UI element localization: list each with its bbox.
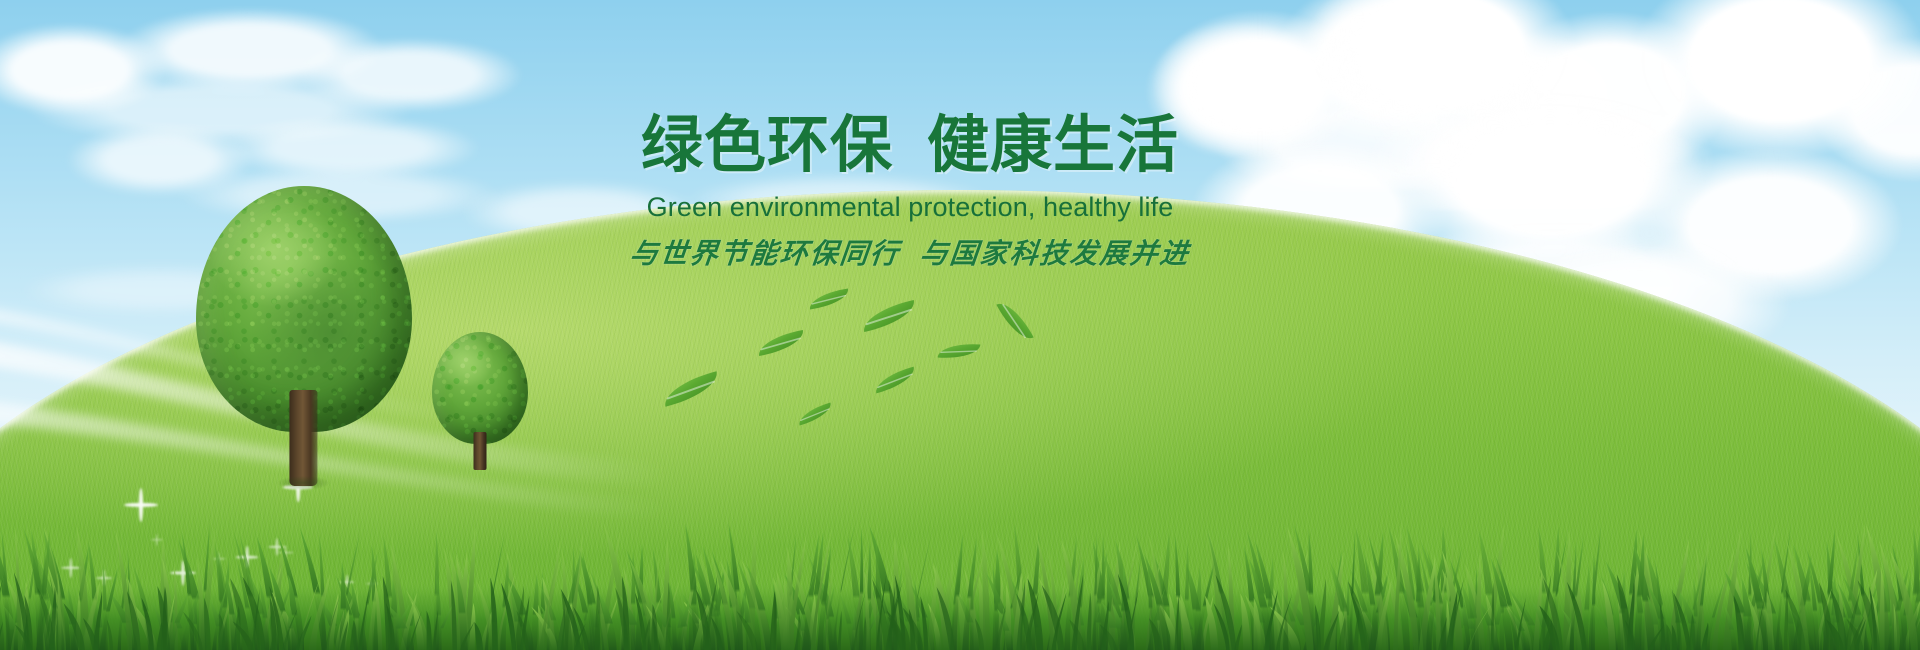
banner-headline: 绿色环保健康生活 (620, 112, 1200, 178)
banner-text-block: 绿色环保健康生活 Green environmental protection,… (620, 112, 1200, 272)
headline-part-2: 健康生活 (927, 108, 1179, 181)
big-tree (196, 186, 412, 486)
big-tree-trunk (289, 390, 317, 486)
small-tree (432, 332, 528, 470)
banner-subtitle-chinese: 与世界节能环保同行与国家科技发展并进 (618, 232, 1202, 272)
banner-subtitle-english: Green environmental protection, healthy … (620, 192, 1200, 223)
small-tree-crown (432, 332, 528, 444)
small-tree-trunk (474, 432, 487, 470)
hero-banner: 绿色环保健康生活 Green environmental protection,… (0, 0, 1920, 650)
subtitle-cn-part-2: 与国家科技发展并进 (918, 237, 1191, 270)
headline-part-1: 绿色环保 (641, 108, 893, 181)
subtitle-cn-part-1: 与世界节能环保同行 (628, 237, 901, 270)
